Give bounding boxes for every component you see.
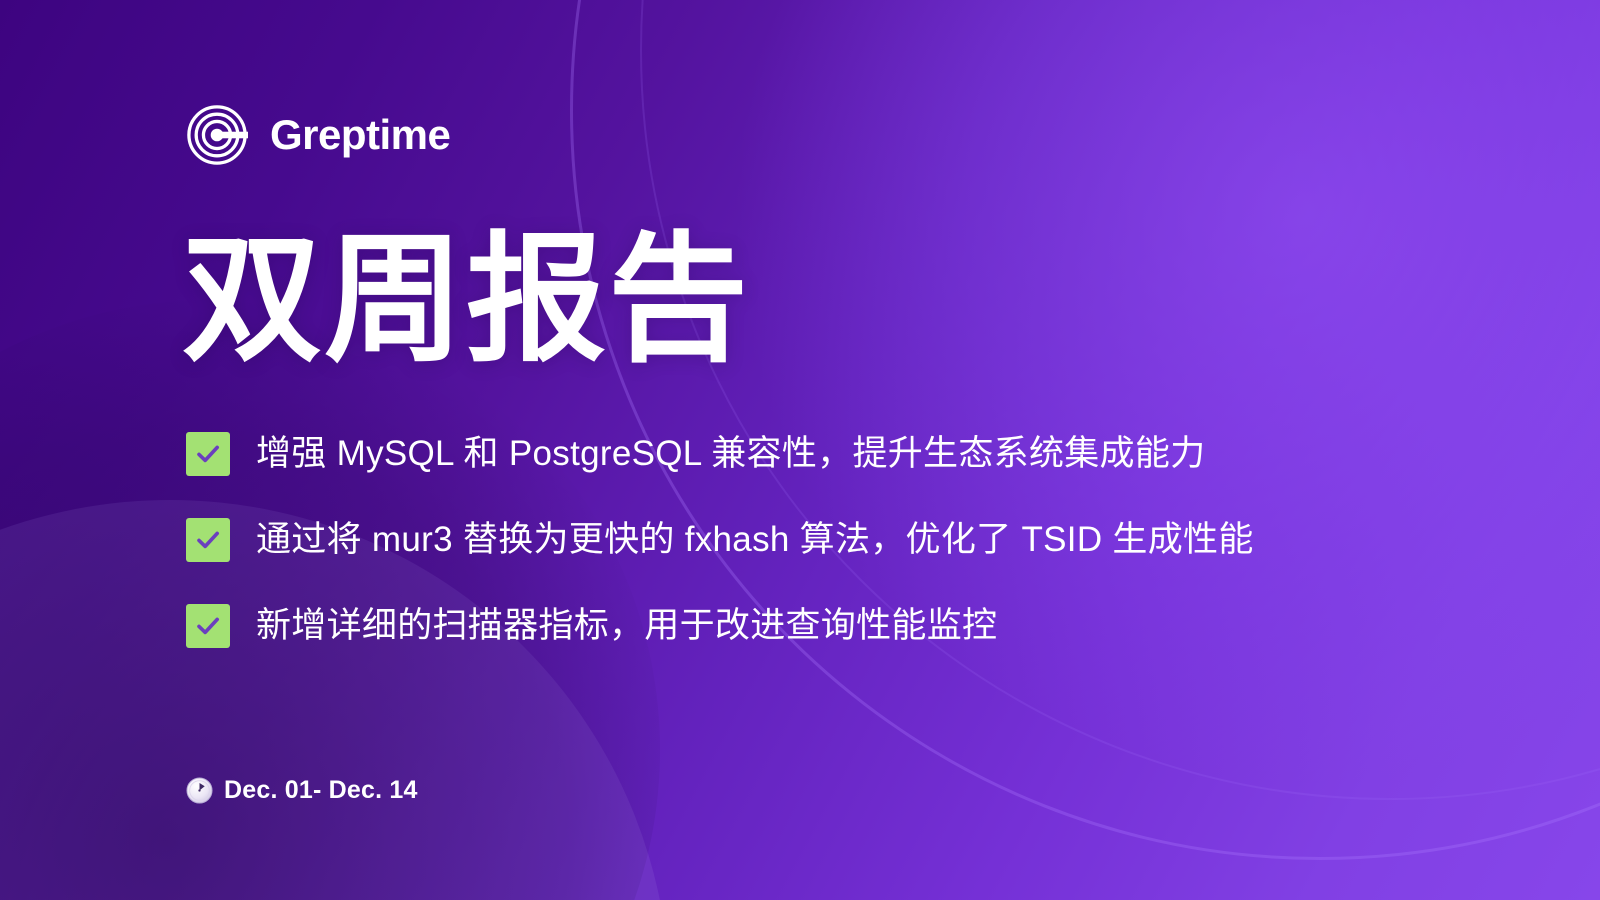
report-slide: Greptime 双周报告 增强 MySQL 和 PostgreSQL 兼容性，… xyxy=(0,0,1600,900)
clock-icon xyxy=(186,777,213,804)
list-item: 增强 MySQL 和 PostgreSQL 兼容性，提升生态系统集成能力 xyxy=(186,432,1254,476)
date-range-label: Dec. 01- Dec. 14 xyxy=(224,776,418,805)
highlights-list: 增强 MySQL 和 PostgreSQL 兼容性，提升生态系统集成能力 通过将… xyxy=(186,432,1254,648)
check-square-icon xyxy=(186,518,230,562)
check-square-icon xyxy=(186,604,230,648)
list-item-label: 增强 MySQL 和 PostgreSQL 兼容性，提升生态系统集成能力 xyxy=(256,432,1205,476)
page-title: 双周报告 xyxy=(182,222,750,379)
list-item-label: 新增详细的扫描器指标，用于改进查询性能监控 xyxy=(256,604,997,648)
list-item: 新增详细的扫描器指标，用于改进查询性能监控 xyxy=(186,604,1254,648)
greptime-spiral-logo-icon xyxy=(186,104,248,166)
list-item: 通过将 mur3 替换为更快的 fxhash 算法，优化了 TSID 生成性能 xyxy=(186,518,1254,562)
brand-lockup: Greptime xyxy=(186,104,450,166)
brand-name: Greptime xyxy=(270,114,450,156)
list-item-label: 通过将 mur3 替换为更快的 fxhash 算法，优化了 TSID 生成性能 xyxy=(256,518,1254,562)
slide-content: Greptime 双周报告 增强 MySQL 和 PostgreSQL 兼容性，… xyxy=(0,0,1600,900)
check-square-icon xyxy=(186,432,230,476)
date-range-footer: Dec. 01- Dec. 14 xyxy=(186,776,418,805)
